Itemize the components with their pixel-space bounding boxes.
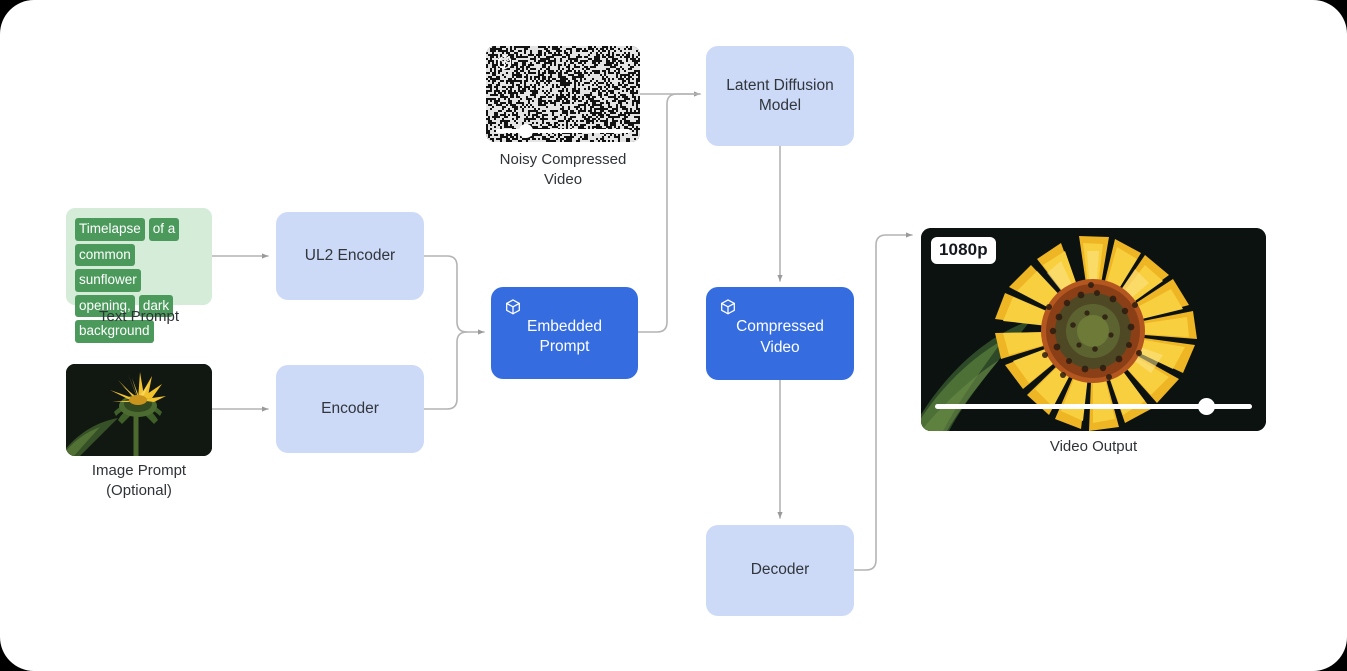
wire-embedded-ldm bbox=[638, 94, 700, 332]
node-encoder[interactable]: Encoder bbox=[276, 365, 424, 453]
node-label: Latent Diffusion Model bbox=[716, 76, 843, 117]
video-output-caption: Video Output bbox=[921, 437, 1266, 457]
node-label: Compressed Video bbox=[726, 317, 834, 358]
prompt-token: of a bbox=[149, 218, 180, 241]
video-scrubber-knob[interactable] bbox=[1198, 398, 1215, 415]
wire-decoder-videooutput bbox=[854, 235, 912, 570]
noisy-compressed-video-thumbnail bbox=[486, 46, 640, 142]
node-label: Embedded Prompt bbox=[517, 317, 612, 358]
cube-icon bbox=[496, 54, 513, 76]
node-label: UL2 Encoder bbox=[295, 246, 405, 266]
resolution-badge: 1080p bbox=[931, 237, 996, 264]
node-label: Decoder bbox=[741, 560, 820, 580]
video-output-thumbnail: 1080p bbox=[921, 228, 1266, 431]
image-prompt-thumbnail bbox=[66, 364, 212, 456]
node-label: Encoder bbox=[311, 399, 389, 419]
wire-ul2-embedded bbox=[424, 256, 484, 332]
node-ul2-encoder[interactable]: UL2 Encoder bbox=[276, 212, 424, 300]
prompt-token: common bbox=[75, 244, 135, 267]
text-prompt-card: Timelapse of a common sunflower opening,… bbox=[66, 208, 212, 305]
wire-encoder-embedded bbox=[424, 332, 467, 409]
text-prompt-caption: Text Prompt bbox=[48, 307, 230, 327]
node-latent-diffusion-model[interactable]: Latent Diffusion Model bbox=[706, 46, 854, 146]
video-scrubber-knob[interactable] bbox=[519, 124, 533, 138]
noisy-compressed-video-caption: Noisy Compressed Video bbox=[471, 150, 655, 191]
prompt-token: Timelapse bbox=[75, 218, 145, 241]
node-decoder[interactable]: Decoder bbox=[706, 525, 854, 616]
image-prompt-caption: Image Prompt (Optional) bbox=[48, 461, 230, 502]
video-scrubber-track[interactable] bbox=[496, 129, 630, 133]
prompt-token: sunflower bbox=[75, 269, 141, 292]
sunflower-bud-image bbox=[66, 364, 212, 456]
diagram-canvas: Timelapse of a common sunflower opening,… bbox=[0, 0, 1347, 671]
cube-icon bbox=[504, 298, 522, 322]
node-compressed-video[interactable]: Compressed Video bbox=[706, 287, 854, 380]
cube-icon bbox=[719, 298, 737, 322]
node-embedded-prompt[interactable]: Embedded Prompt bbox=[491, 287, 638, 379]
